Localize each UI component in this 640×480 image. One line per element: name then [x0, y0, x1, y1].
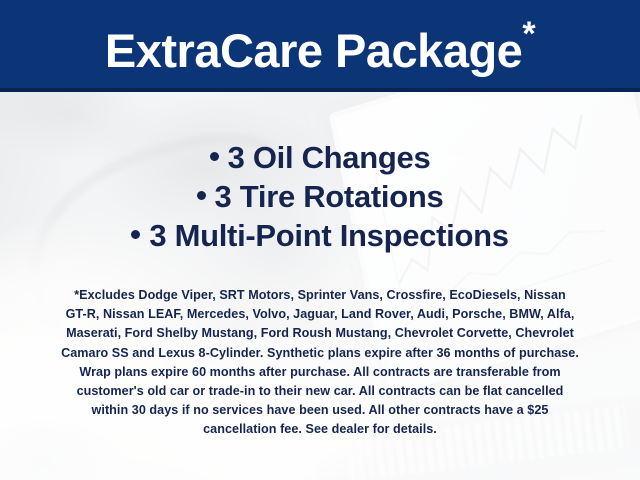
- list-item: 3 Oil Changes: [0, 138, 640, 177]
- disclaimer-line: Wrap plans expire 60 months after purcha…: [26, 363, 614, 382]
- disclaimer-line: Maserati, Ford Shelby Mustang, Ford Rous…: [26, 324, 614, 343]
- disclaimer-line: *Excludes Dodge Viper, SRT Motors, Sprin…: [26, 286, 614, 305]
- disclaimer-line: Camaro SS and Lexus 8-Cylinder. Syntheti…: [26, 344, 614, 363]
- bullet-dot-icon: [131, 230, 140, 239]
- extracare-package-ad: ExtraCare Package* 3 Oil Changes 3 Tire …: [0, 0, 640, 480]
- disclaimer-line: customer's old car or trade-in to their …: [26, 382, 614, 401]
- list-item: 3 Multi-Point Inspections: [0, 216, 640, 255]
- disclaimer-line: GT-R, Nissan LEAF, Mercedes, Volvo, Jagu…: [26, 305, 614, 324]
- page-title: ExtraCare Package*: [105, 15, 535, 74]
- page-title-asterisk: *: [522, 15, 535, 53]
- bullet-dot-icon: [197, 191, 206, 200]
- disclaimer-line: within 30 days if no services have been …: [26, 401, 614, 420]
- benefit-label: 3 Tire Rotations: [215, 179, 444, 214]
- benefit-label: 3 Oil Changes: [228, 140, 431, 175]
- benefits-list: 3 Oil Changes 3 Tire Rotations 3 Multi-P…: [0, 138, 640, 255]
- list-item: 3 Tire Rotations: [0, 177, 640, 216]
- page-title-text: ExtraCare Package: [105, 24, 522, 77]
- disclaimer-line: cancellation fee. See dealer for details…: [26, 420, 614, 439]
- bullet-dot-icon: [210, 152, 219, 161]
- benefit-label: 3 Multi-Point Inspections: [149, 218, 508, 253]
- header-divider: [0, 88, 640, 92]
- disclaimer-text: *Excludes Dodge Viper, SRT Motors, Sprin…: [26, 286, 614, 440]
- header-banner: ExtraCare Package*: [0, 0, 640, 88]
